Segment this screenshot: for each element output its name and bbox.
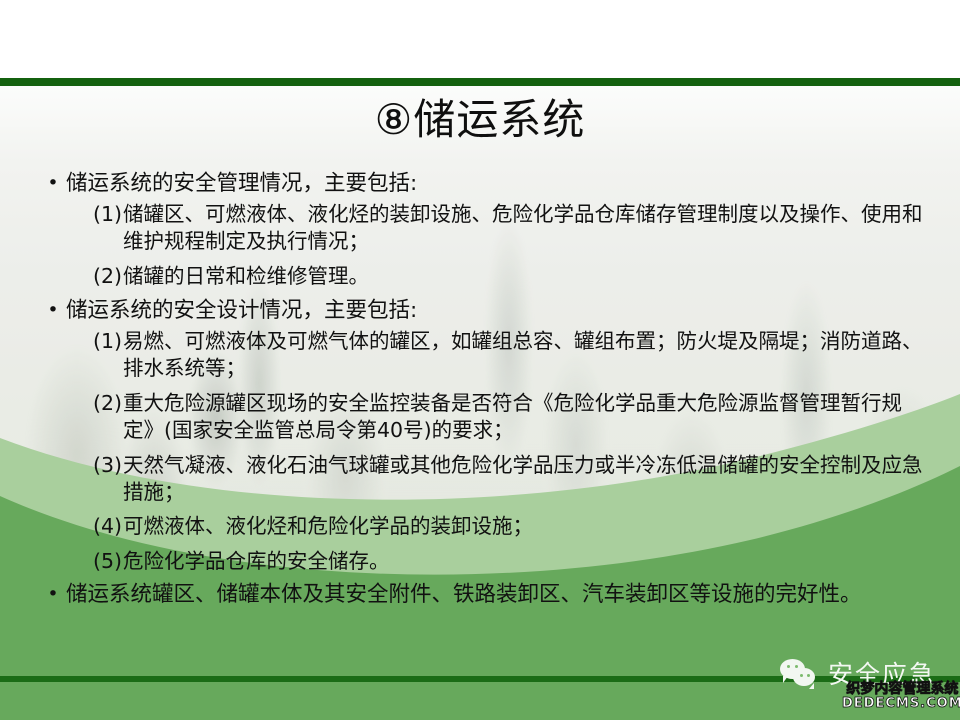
list-item: • 储运系统罐区、储罐本体及其安全附件、铁路装卸区、汽车装卸区等设施的完好性。 — [40, 581, 930, 609]
bullet-icon: • — [40, 581, 66, 608]
level2-text: 危险化学品仓库的安全储存。 — [123, 549, 390, 573]
level1-text: 储运系统的安全设计情况，主要包括: — [66, 297, 930, 325]
watermark-en: DEDECMS.COM — [842, 697, 960, 710]
list-item: (5) 危险化学品仓库的安全储存。 — [93, 548, 930, 575]
list-item: (1) 储罐区、可燃液体、液化烃的装卸设施、危险化学品仓库储存管理制度以及操作、… — [93, 201, 930, 255]
list-item: (2) 重大危险源罐区现场的安全监控装备是否符合《危险化学品重大危险源监督管理暂… — [93, 390, 930, 444]
level1-text: 储运系统罐区、储罐本体及其安全附件、铁路装卸区、汽车装卸区等设施的完好性。 — [66, 581, 930, 609]
level2-text: 储罐区、可燃液体、液化烃的装卸设施、危险化学品仓库储存管理制度以及操作、使用和维… — [123, 202, 923, 253]
list-item: • 储运系统的安全设计情况，主要包括: — [40, 297, 930, 325]
level1-text: 储运系统的安全管理情况，主要包括: — [66, 170, 930, 198]
level2-text: 易燃、可燃液体及可燃气体的罐区，如罐组总容、罐组布置；防火堤及隔堤；消防道路、排… — [123, 329, 923, 380]
watermark-cn: 织梦内容管理系统 — [842, 682, 960, 696]
top-green-rule — [0, 78, 960, 86]
slide-body: • 储运系统的安全管理情况，主要包括: (1) 储罐区、可燃液体、液化烃的装卸设… — [40, 168, 930, 609]
item-number: (3) — [93, 452, 122, 479]
item-number: (2) — [93, 263, 122, 290]
wechat-icon — [780, 657, 820, 691]
list-item: (1) 易燃、可燃液体及可燃气体的罐区，如罐组总容、罐组布置；防火堤及隔堤；消防… — [93, 328, 930, 382]
list-item: (4) 可燃液体、液化烃和危险化学品的装卸设施； — [93, 513, 930, 540]
level2-text: 储罐的日常和检维修管理。 — [123, 264, 369, 288]
list-item: • 储运系统的安全管理情况，主要包括: — [40, 170, 930, 198]
item-number: (1) — [93, 201, 122, 228]
bullet-icon: • — [40, 170, 66, 197]
slide-canvas: ⑧储运系统 • 储运系统的安全管理情况，主要包括: (1) 储罐区、可燃液体、液… — [0, 0, 960, 720]
list-item: (2) 储罐的日常和检维修管理。 — [93, 263, 930, 290]
page-title: ⑧储运系统 — [0, 96, 960, 143]
bullet-icon: • — [40, 297, 66, 324]
item-number: (1) — [93, 328, 122, 355]
level2-text: 重大危险源罐区现场的安全监控装备是否符合《危险化学品重大危险源监督管理暂行规定》… — [123, 391, 902, 442]
level2-text: 可燃液体、液化烃和危险化学品的装卸设施； — [123, 514, 533, 538]
item-number: (4) — [93, 513, 122, 540]
item-number: (5) — [93, 548, 122, 575]
item-number: (2) — [93, 390, 122, 417]
level2-text: 天然气凝液、液化石油气球罐或其他危险化学品压力或半冷冻低温储罐的安全控制及应急措… — [123, 453, 923, 504]
watermark: 织梦内容管理系统 DEDECMS.COM — [842, 682, 960, 710]
list-item: (3) 天然气凝液、液化石油气球罐或其他危险化学品压力或半冷冻低温储罐的安全控制… — [93, 452, 930, 506]
